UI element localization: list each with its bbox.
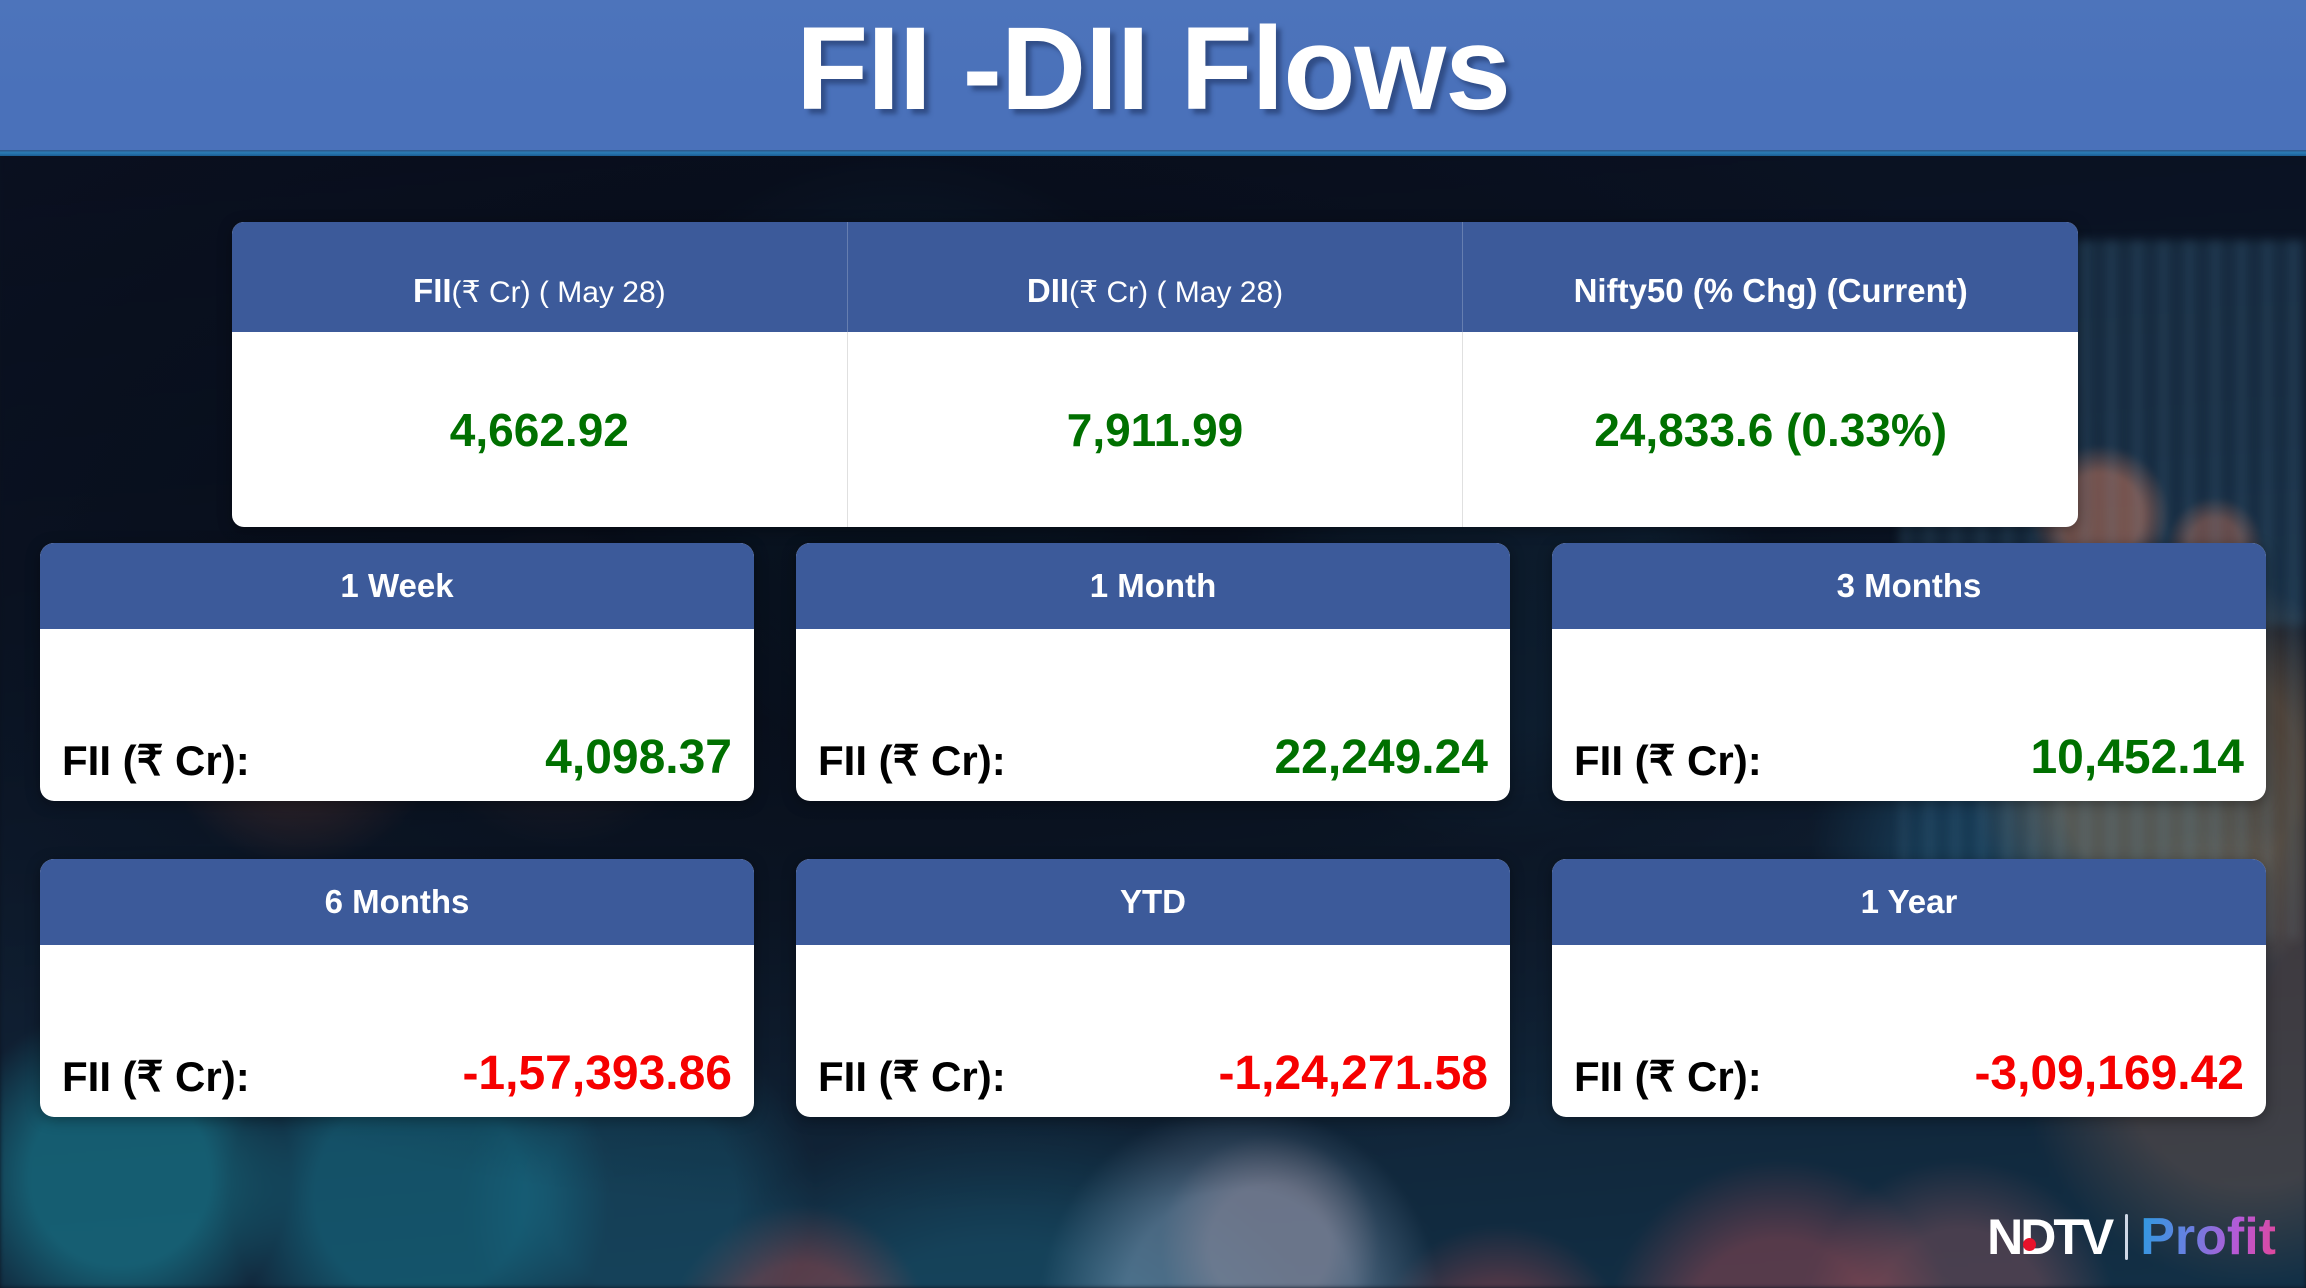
period-card-grid: 1 Week FII (₹ Cr): 4,098.37 1 Month FII … bbox=[40, 543, 2266, 1117]
period-card-value: 10,452.14 bbox=[2030, 730, 2244, 785]
period-card-6-months: 6 Months FII (₹ Cr): -1,57,393.86 bbox=[40, 859, 754, 1117]
summary-header-fii-unit: (₹ Cr) ( May 28) bbox=[452, 275, 666, 310]
period-card-value: 22,249.24 bbox=[1274, 730, 1488, 785]
title-banner: FII -DII Flows bbox=[0, 0, 2306, 150]
ndtv-wordmark: NDTV bbox=[1987, 1212, 2111, 1262]
period-card-value: -1,57,393.86 bbox=[462, 1046, 732, 1101]
period-card-title: 3 Months bbox=[1552, 543, 2266, 629]
summary-value-fii: 4,662.92 bbox=[232, 332, 848, 527]
period-card-body: FII (₹ Cr): 22,249.24 bbox=[796, 629, 1510, 801]
summary-header-nifty50-main: Nifty50 (% Chg) (Current) bbox=[1574, 272, 1968, 310]
period-card-body: FII (₹ Cr): -1,24,271.58 bbox=[796, 945, 1510, 1117]
summary-header-dii-unit: (₹ Cr) ( May 28) bbox=[1069, 275, 1283, 310]
summary-value-dii: 7,911.99 bbox=[848, 332, 1464, 527]
period-card-body: FII (₹ Cr): 4,098.37 bbox=[40, 629, 754, 801]
period-card-1-year: 1 Year FII (₹ Cr): -3,09,169.42 bbox=[1552, 859, 2266, 1117]
period-card-value: -1,24,271.58 bbox=[1218, 1046, 1488, 1101]
fii-dii-flows-graphic: FII -DII Flows FII (₹ Cr) ( May 28) DII … bbox=[0, 0, 2306, 1288]
summary-table-value-row: 4,662.92 7,911.99 24,833.6 (0.33%) bbox=[232, 332, 2078, 527]
period-card-1-week: 1 Week FII (₹ Cr): 4,098.37 bbox=[40, 543, 754, 801]
period-card-1-month: 1 Month FII (₹ Cr): 22,249.24 bbox=[796, 543, 1510, 801]
profit-wordmark: Profit bbox=[2140, 1211, 2276, 1263]
ndtv-wordmark-text: NDTV bbox=[1987, 1209, 2111, 1265]
period-card-label: FII (₹ Cr): bbox=[1574, 1052, 1762, 1101]
logo-divider bbox=[2125, 1214, 2128, 1260]
period-card-label: FII (₹ Cr): bbox=[818, 736, 1006, 785]
period-card-title: 1 Month bbox=[796, 543, 1510, 629]
period-card-ytd: YTD FII (₹ Cr): -1,24,271.58 bbox=[796, 859, 1510, 1117]
period-card-title: 1 Year bbox=[1552, 859, 2266, 945]
period-card-value: 4,098.37 bbox=[545, 730, 732, 785]
summary-header-dii-main: DII bbox=[1027, 272, 1069, 310]
period-card-body: FII (₹ Cr): -3,09,169.42 bbox=[1552, 945, 2266, 1117]
period-card-label: FII (₹ Cr): bbox=[62, 736, 250, 785]
period-card-title: YTD bbox=[796, 859, 1510, 945]
summary-header-dii: DII (₹ Cr) ( May 28) bbox=[848, 222, 1464, 332]
summary-table-header-row: FII (₹ Cr) ( May 28) DII (₹ Cr) ( May 28… bbox=[232, 222, 2078, 332]
summary-header-fii: FII (₹ Cr) ( May 28) bbox=[232, 222, 848, 332]
page-title: FII -DII Flows bbox=[0, 0, 2306, 144]
banner-bottom-edge bbox=[0, 150, 2306, 156]
ndtv-profit-logo: NDTV Profit bbox=[1987, 1208, 2276, 1266]
period-card-title: 6 Months bbox=[40, 859, 754, 945]
period-card-title: 1 Week bbox=[40, 543, 754, 629]
period-card-label: FII (₹ Cr): bbox=[1574, 736, 1762, 785]
summary-table: FII (₹ Cr) ( May 28) DII (₹ Cr) ( May 28… bbox=[232, 222, 2078, 527]
period-card-body: FII (₹ Cr): 10,452.14 bbox=[1552, 629, 2266, 801]
summary-header-nifty50: Nifty50 (% Chg) (Current) bbox=[1463, 222, 2078, 332]
period-card-3-months: 3 Months FII (₹ Cr): 10,452.14 bbox=[1552, 543, 2266, 801]
period-card-label: FII (₹ Cr): bbox=[62, 1052, 250, 1101]
summary-value-nifty50: 24,833.6 (0.33%) bbox=[1463, 332, 2078, 527]
period-card-value: -3,09,169.42 bbox=[1974, 1046, 2244, 1101]
period-card-body: FII (₹ Cr): -1,57,393.86 bbox=[40, 945, 754, 1117]
summary-header-fii-main: FII bbox=[413, 272, 452, 310]
period-card-label: FII (₹ Cr): bbox=[818, 1052, 1006, 1101]
